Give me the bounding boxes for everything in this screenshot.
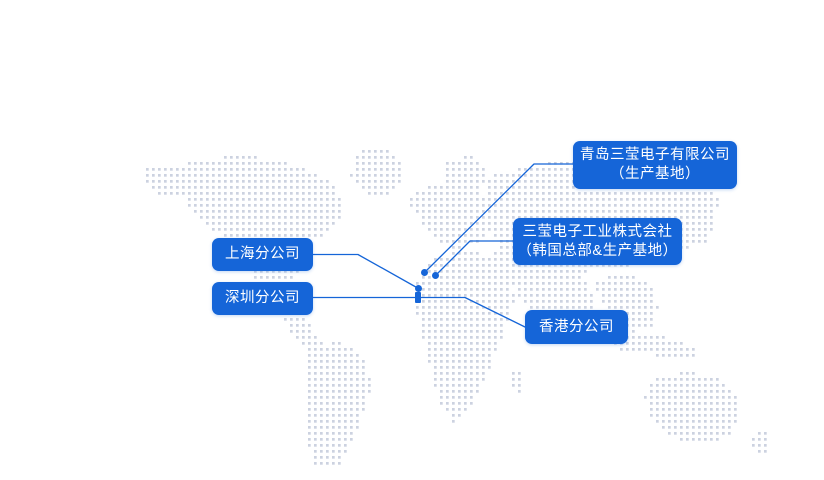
label-shanghai-line1: 上海分公司 (225, 245, 300, 264)
label-korea-line1: 三莹电子工业株式会社 (523, 223, 673, 242)
marker-dot-qingdao[interactable] (421, 269, 428, 276)
label-box-shanghai[interactable]: 上海分公司 (212, 238, 313, 271)
dotted-world-map (0, 0, 824, 480)
label-box-hongkong[interactable]: 香港分公司 (525, 310, 628, 344)
world-map-stage: 青岛三莹电子有限公司 （生产基地） 三莹电子工业株式会社 （韩国总部&生产基地）… (0, 0, 824, 480)
label-korea-line2: （韩国总部&生产基地） (517, 242, 677, 261)
label-hongkong-line1: 香港分公司 (539, 318, 614, 337)
label-shenzhen-line1: 深圳分公司 (225, 289, 300, 308)
marker-dot-shanghai[interactable] (415, 285, 422, 292)
label-qingdao-line2: （生产基地） (610, 165, 700, 184)
label-box-shenzhen[interactable]: 深圳分公司 (212, 282, 313, 315)
marker-dot-shenzhen[interactable] (415, 292, 421, 303)
label-box-qingdao[interactable]: 青岛三莹电子有限公司 （生产基地） (573, 141, 737, 189)
label-qingdao-line1: 青岛三莹电子有限公司 (580, 146, 730, 165)
label-box-korea[interactable]: 三莹电子工业株式会社 （韩国总部&生产基地） (513, 218, 682, 265)
marker-dot-korea[interactable] (432, 272, 439, 279)
